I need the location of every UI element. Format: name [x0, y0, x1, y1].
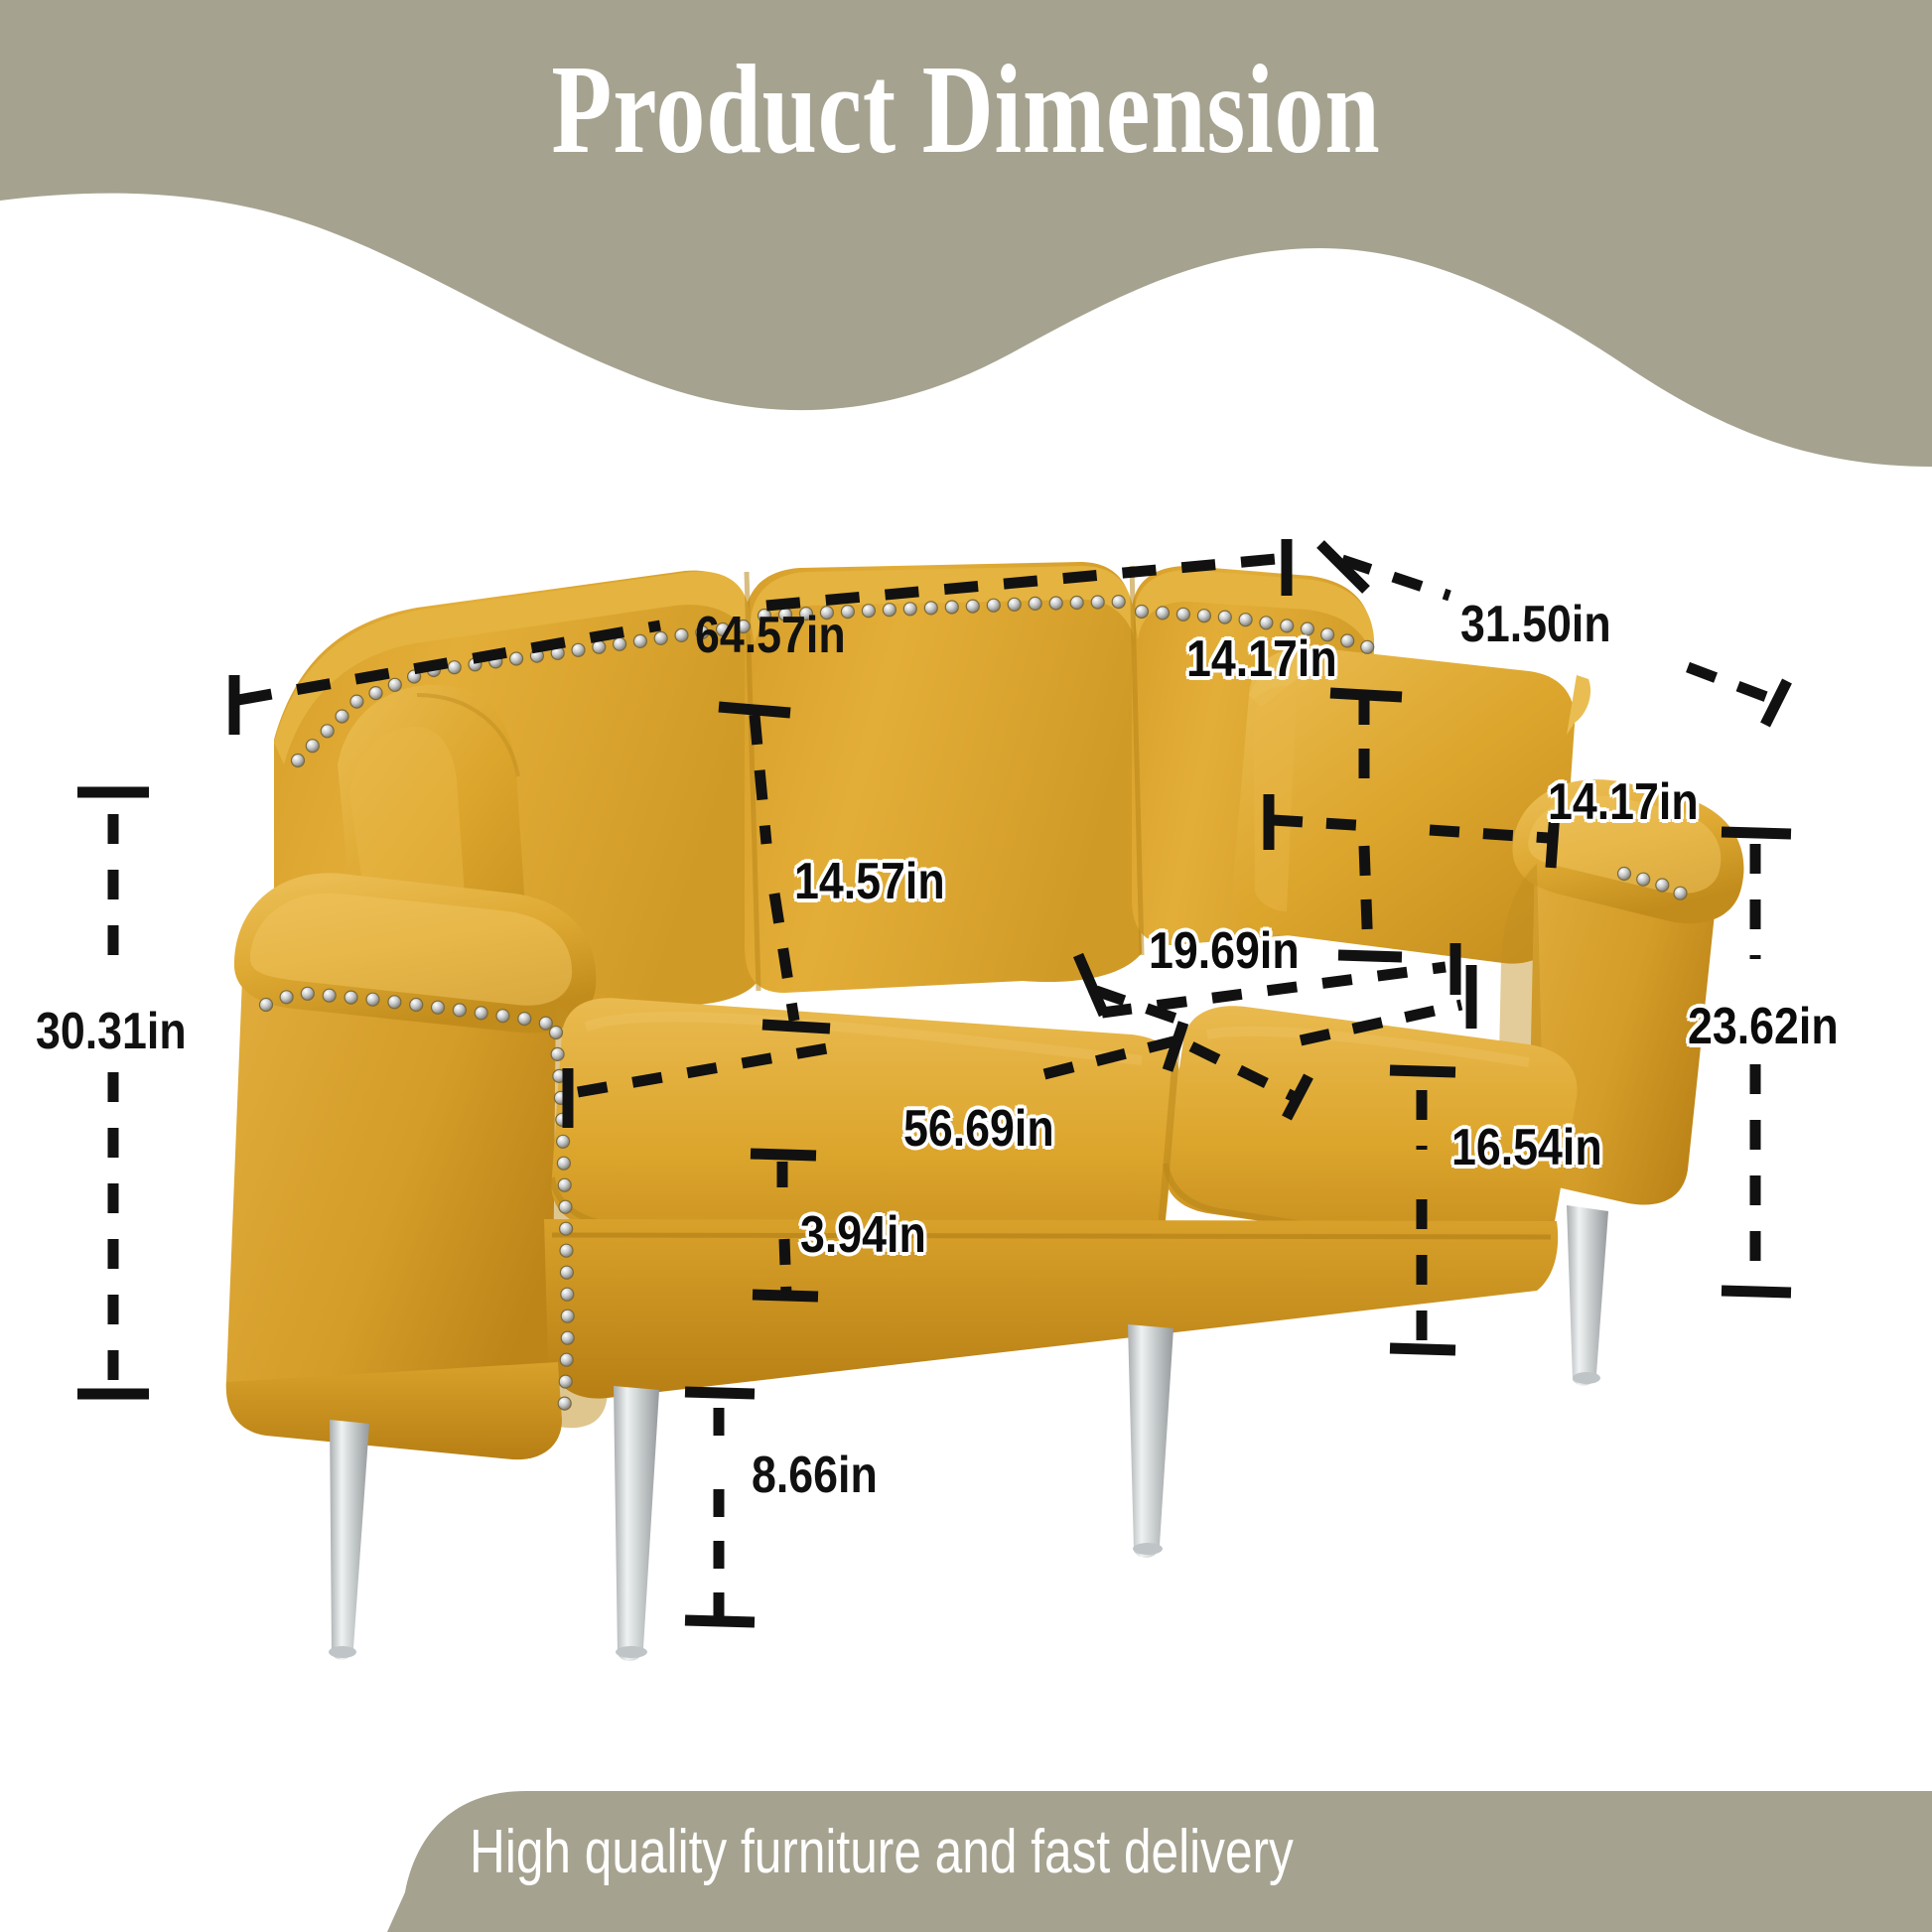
product-dimension-poster: Product Dimension High quality furniture…: [0, 0, 1932, 1932]
dimension-label-back-cushion-height: 14.57in: [794, 856, 945, 907]
footer-tagline: High quality furniture and fast delivery: [470, 1822, 1639, 1883]
dimension-label-arm-width: 3.94in: [800, 1209, 926, 1261]
dimension-label-pillow-width: 14.17in: [1186, 633, 1337, 685]
dimension-label-leg-height: 8.66in: [752, 1449, 878, 1501]
dimension-label-overall-width: 64.57in: [695, 610, 846, 661]
dimension-label-seat-depth: 19.69in: [1149, 925, 1300, 977]
dimension-label-pillow-height: 14.17in: [1548, 776, 1699, 828]
sofa-illustration: [0, 0, 1932, 1932]
dimension-label-overall-depth: 31.50in: [1460, 599, 1611, 650]
page-title: Product Dimension: [212, 40, 1720, 180]
dimension-label-seat-height: 16.54in: [1451, 1122, 1602, 1173]
dimension-label-seat-width: 56.69in: [903, 1103, 1054, 1155]
dimension-label-arm-height: 23.62in: [1688, 1001, 1839, 1052]
dimension-label-overall-height: 30.31in: [36, 1006, 187, 1057]
